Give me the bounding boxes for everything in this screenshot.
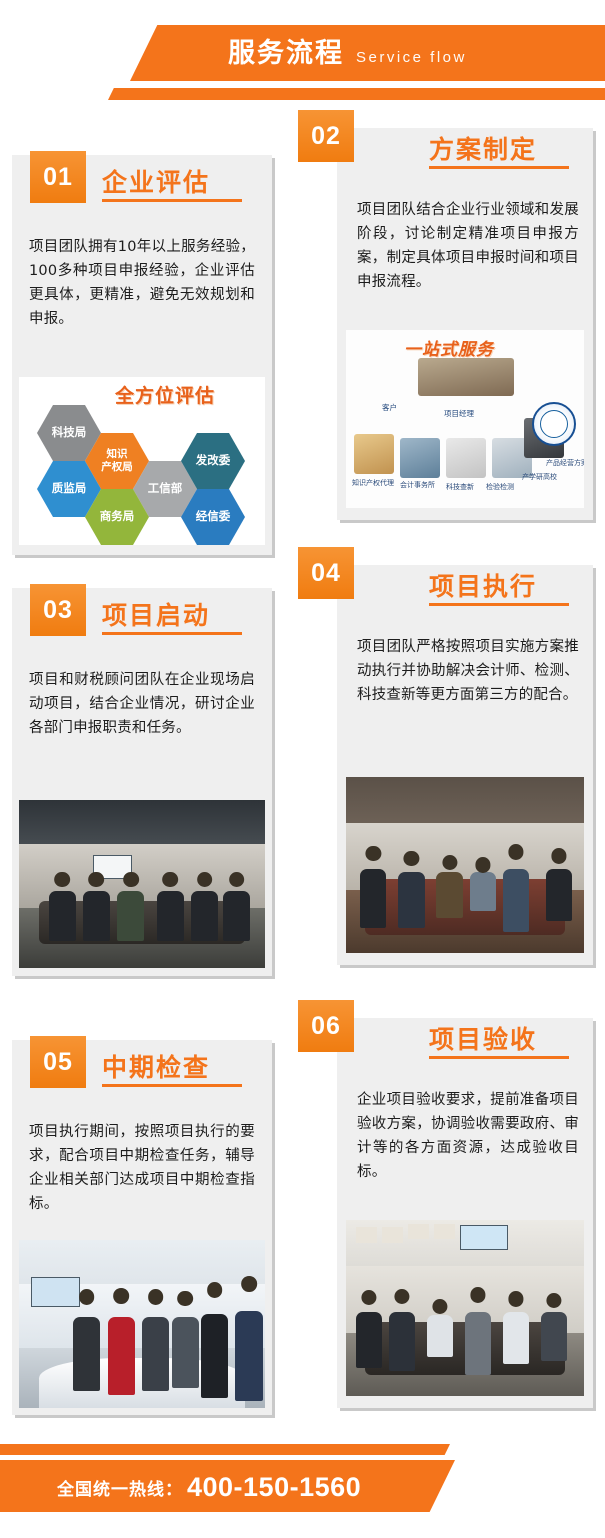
step-title: 项目验收 (429, 1020, 537, 1056)
step-number-badge: 02 (298, 110, 354, 162)
title-underline (102, 1084, 242, 1087)
step-photo-working-session (346, 777, 584, 953)
one-stop-caption-university: 产学研高校 (522, 472, 557, 482)
step-card-06: 06 项目验收 企业项目验收要求，提前准备项目验收方案，协调验收需要政府、审计等… (337, 1018, 593, 1408)
card-header-03: 03 项目启动 (12, 588, 272, 662)
step-description: 项目和财税顾问团队在企业现场启动项目，结合企业情况，研讨企业各部门申报职责和任务… (29, 668, 255, 740)
one-stop-hub-photo (418, 358, 514, 396)
one-stop-certification-seal (532, 402, 576, 446)
page-header: 服务流程 Service flow (0, 0, 605, 112)
step-title: 项目启动 (102, 596, 210, 632)
title-underline (102, 632, 242, 635)
card-header-02: 02 方案制定 (337, 128, 593, 202)
step-card-01: 01 企业评估 项目团队拥有10年以上服务经验，100多种项目申报经验，企业评估… (12, 155, 272, 555)
header-title-group: 服务流程 Service flow (228, 33, 467, 75)
step-title: 企业评估 (102, 163, 210, 199)
one-stop-label-customer: 客户 (382, 402, 397, 413)
step-description: 项目团队拥有10年以上服务经验，100多种项目申报经验，企业评估更具体，更精准，… (29, 235, 255, 331)
card-header-06: 06 项目验收 (337, 1018, 593, 1092)
one-stop-label-manager: 项目经理 (444, 408, 474, 419)
one-stop-caption-testing: 检验检测 (486, 482, 514, 492)
step-description: 项目团队结合企业行业领域和发展阶段，讨论制定精准项目申报方案，制定具体项目申报时… (357, 198, 579, 294)
one-stop-service-diagram: 一站式服务 客户 项目经理 知识产权代理 会计事务所 科技查新 检验检测 产学研… (346, 330, 584, 508)
page-title: 服务流程 (228, 33, 344, 73)
one-stop-node-ip (354, 434, 394, 474)
step-photo-site-visit (19, 1240, 265, 1408)
title-underline (429, 1056, 569, 1059)
page-footer: 全国统一热线： 400-150-1560 (0, 1400, 605, 1538)
step-card-03: 03 项目启动 项目和财税顾问团队在企业现场启动项目，结合企业情况，研讨企业各部… (12, 588, 272, 976)
title-underline (429, 166, 569, 169)
step-number-badge: 04 (298, 547, 354, 599)
step-photo-acceptance-meeting (346, 1220, 584, 1396)
page-subtitle: Service flow (356, 38, 467, 78)
step-description: 项目团队严格按照项目实施方案推动执行并协助解决会计师、检测、科技查新等更方面第三… (357, 635, 579, 707)
step-number-badge: 01 (30, 151, 86, 203)
step-number-badge: 05 (30, 1036, 86, 1088)
title-underline (429, 603, 569, 606)
hotline-number[interactable]: 400-150-1560 (187, 1472, 361, 1503)
step-card-04: 04 项目执行 项目团队严格按照项目实施方案推动执行并协助解决会计师、检测、科技… (337, 565, 593, 965)
one-stop-node-search (446, 438, 486, 478)
step-title: 方案制定 (429, 130, 537, 166)
step-photo-meeting-room (19, 800, 265, 968)
step-title: 项目执行 (429, 567, 537, 603)
step-description: 项目执行期间，按照项目执行的要求，配合项目中期检查任务，辅导企业相关部门达成项目… (29, 1120, 255, 1216)
step-card-05: 05 中期检查 项目执行期间，按照项目执行的要求，配合项目中期检查任务，辅导企业… (12, 1040, 272, 1415)
one-stop-caption-search: 科技查新 (446, 482, 474, 492)
step-title: 中期检查 (102, 1048, 210, 1084)
hex-diagram-title: 全方位评估 (115, 381, 215, 408)
step-card-02: 02 方案制定 项目团队结合企业行业领域和发展阶段，讨论制定精准项目申报方案，制… (337, 128, 593, 520)
footer-stripe-shape (0, 1444, 450, 1455)
one-stop-title: 一站式服务 (404, 335, 494, 360)
step-number-badge: 03 (30, 584, 86, 636)
title-underline (102, 199, 242, 202)
card-header-04: 04 项目执行 (337, 565, 593, 639)
card-header-01: 01 企业评估 (12, 155, 272, 229)
one-stop-caption-ip: 知识产权代理 (352, 478, 394, 488)
hotline-label: 全国统一热线： (57, 1475, 183, 1500)
step-number-badge: 06 (298, 1000, 354, 1052)
hotline-group: 全国统一热线： 400-150-1560 (57, 1468, 361, 1506)
header-stripe-shape (108, 88, 605, 100)
hex-assessment-diagram: 全方位评估 科技局 知识产权局 质监局 工信部 商务局 发改委 经信委 (19, 377, 265, 545)
step-description: 企业项目验收要求，提前准备项目验收方案，协调验收需要政府、审计等的各方面资源，达… (357, 1088, 579, 1184)
service-flow-infographic: 服务流程 Service flow 01 企业评估 项目团队拥有10年以上服务经… (0, 0, 605, 1538)
one-stop-caption-accounting: 会计事务所 (400, 480, 435, 490)
one-stop-caption-plan: 产品经营方案 (546, 458, 584, 468)
one-stop-node-accounting (400, 438, 440, 478)
card-header-05: 05 中期检查 (12, 1040, 272, 1114)
